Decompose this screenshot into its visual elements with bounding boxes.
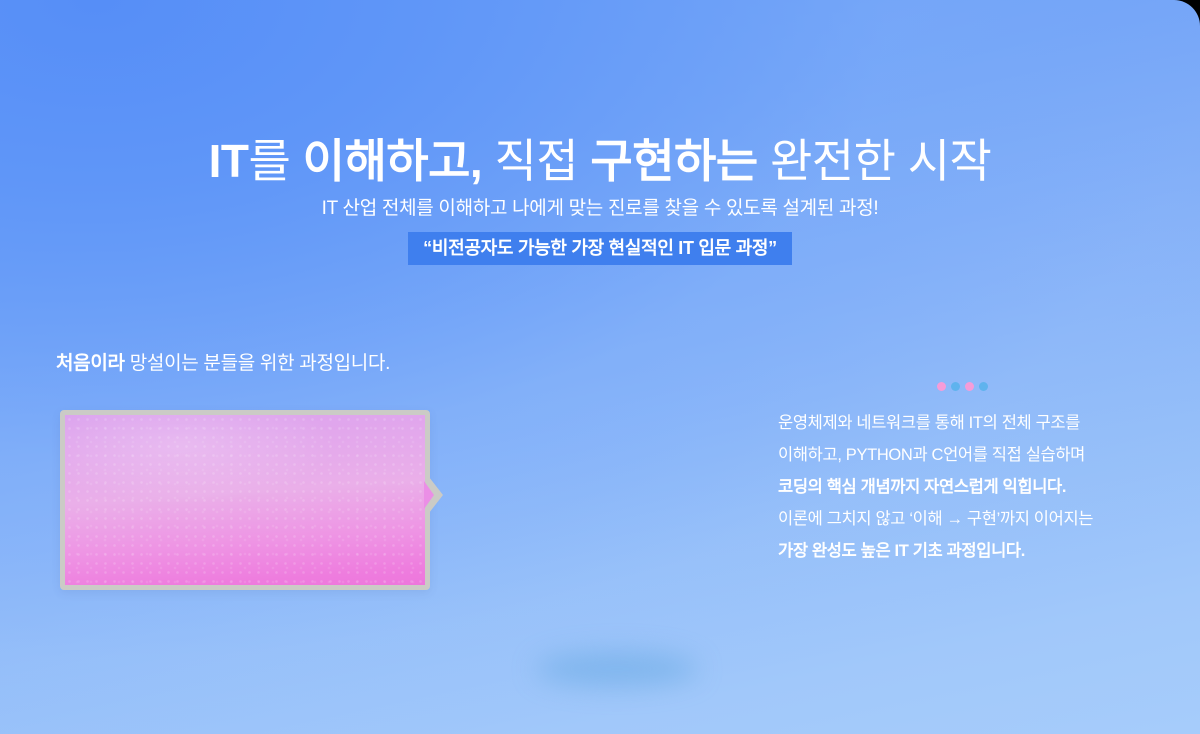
page-title-run-2: 이해하고, — [303, 135, 483, 187]
hero-subtitle: IT 산업 전체를 이해하고 나에게 맞는 진로를 찾을 수 있도록 설계된 과… — [0, 195, 1200, 223]
description-line-4: 이론에 그치지 않고 ‘이해 → 구현’까지 이어지는 — [778, 503, 1150, 535]
section-heading-left-run-1: 망설이는 분들을 위한 과정입니다. — [125, 353, 390, 374]
description-line-2: 이해하고, PYTHON과 C언어를 직접 실습하며 — [778, 439, 1150, 471]
page-title-run-5: 완전한 시작 — [758, 135, 992, 187]
promo-banner: IT를 이해하고, 직접 구현하는 완전한 시작 IT 산업 전체를 이해하고 … — [0, 0, 1200, 734]
description-line-5: 가장 완성도 높은 IT 기초 과정입니다. — [778, 535, 1150, 567]
dot-pink-2 — [965, 382, 974, 391]
section-heading-left-run-0: 처음이라 — [56, 353, 125, 374]
status-badge: “비전공자도 가능한 가장 현실적인 IT 입문 과정” — [408, 232, 792, 265]
hero-badge-container: “비전공자도 가능한 가장 현실적인 IT 입문 과정” — [0, 232, 1200, 265]
page-title-run-1: 를 — [249, 135, 303, 187]
description-line-1: 운영체제와 네트워크를 통해 IT의 전체 구조를 — [778, 407, 1150, 439]
card-texture-overlay — [65, 415, 425, 585]
pink-media-card — [60, 410, 430, 590]
dot-decoration-group — [937, 382, 988, 391]
page-title-run-3: 직접 — [482, 135, 590, 187]
page-title: IT를 이해하고, 직접 구현하는 완전한 시작 — [0, 129, 1200, 193]
page-title-run-4: 구현하는 — [590, 135, 757, 187]
page-title-run-0: IT — [209, 135, 249, 187]
blurred-shadow-decoration — [536, 652, 698, 686]
card-pointer-fill — [424, 481, 434, 509]
description-line-3: 코딩의 핵심 개념까지 자연스럽게 익힙니다. — [778, 471, 1150, 503]
course-description-paragraph: 운영체제와 네트워크를 통해 IT의 전체 구조를이해하고, PYTHON과 C… — [778, 407, 1150, 567]
dot-pink-1 — [937, 382, 946, 391]
dot-blue-2 — [979, 382, 988, 391]
section-heading-left: 처음이라 망설이는 분들을 위한 과정입니다. — [56, 350, 390, 378]
dot-blue-1 — [951, 382, 960, 391]
